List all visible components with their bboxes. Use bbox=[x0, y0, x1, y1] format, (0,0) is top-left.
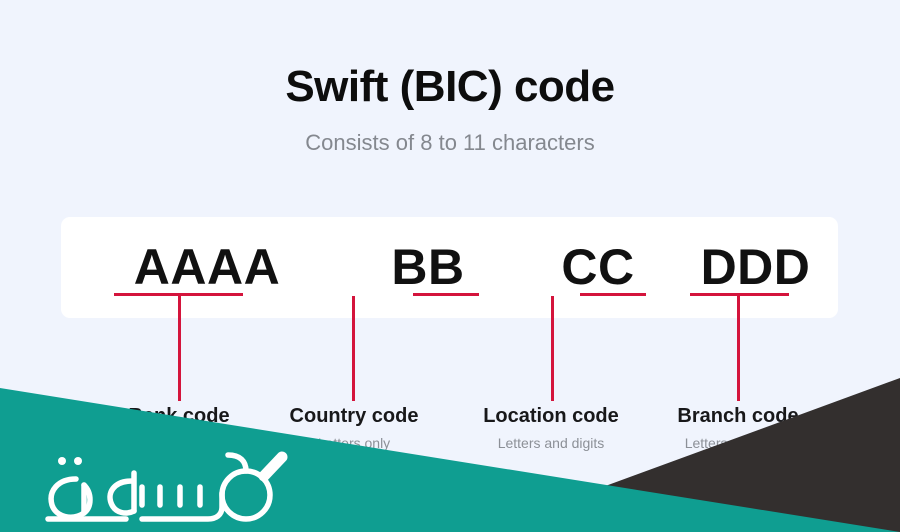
connector-line-location bbox=[551, 296, 554, 401]
label-location-code: Location code bbox=[445, 404, 657, 429]
page-subtitle: Consists of 8 to 11 characters bbox=[0, 130, 900, 156]
label-group-branch: Branch code Letters and digits bbox=[632, 404, 844, 453]
code-segment-location-text: CC bbox=[523, 217, 673, 318]
mawsoah-logo bbox=[14, 443, 304, 525]
connector-line-country bbox=[352, 296, 355, 401]
label-branch-code: Branch code bbox=[632, 404, 844, 429]
connector-line-branch bbox=[737, 296, 740, 401]
infographic-canvas: Swift (BIC) code Consists of 8 to 11 cha… bbox=[0, 0, 900, 532]
sublabel-branch-code: Letters and digits bbox=[632, 435, 844, 453]
code-segment-bank: AAAA bbox=[61, 217, 353, 318]
sublabel-location-code: Letters and digits bbox=[445, 435, 657, 453]
label-group-location: Location code Letters and digits bbox=[445, 404, 657, 453]
code-segment-location: CC bbox=[523, 217, 673, 318]
label-group-country: Country code Letters only bbox=[248, 404, 460, 453]
connector-line-bank bbox=[178, 296, 181, 401]
code-segment-branch-text: DDD bbox=[673, 217, 838, 318]
page-title: Swift (BIC) code bbox=[0, 62, 900, 113]
label-country-code: Country code bbox=[248, 404, 460, 429]
code-segment-location-underline bbox=[580, 293, 646, 296]
code-segment-country-text: BB bbox=[353, 217, 503, 318]
code-segment-country: BB bbox=[353, 217, 503, 318]
code-segment-bank-text: AAAA bbox=[61, 217, 353, 318]
sublabel-country-code: Letters only bbox=[248, 435, 460, 453]
code-segment-country-underline bbox=[413, 293, 479, 296]
code-segment-branch: DDD bbox=[673, 217, 838, 318]
